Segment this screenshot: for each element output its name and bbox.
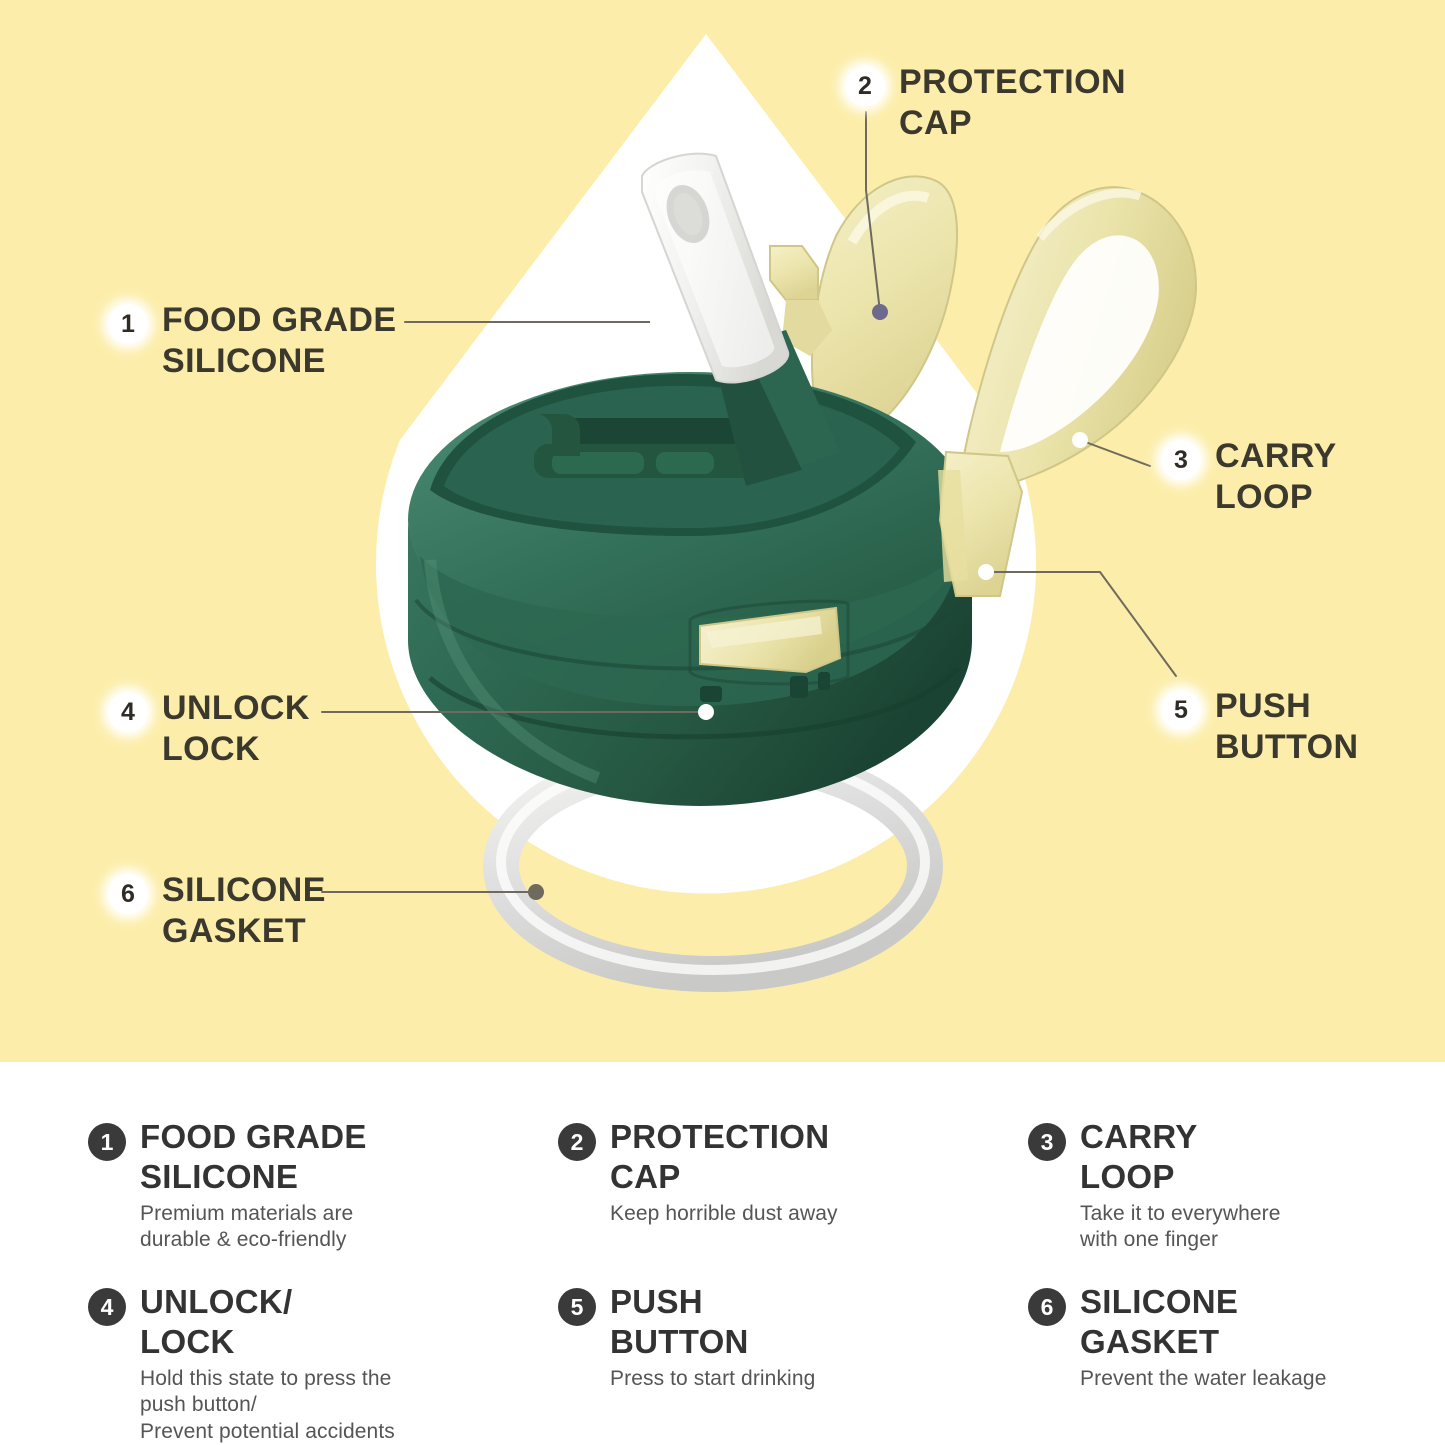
legend-desc-5: Press to start drinking [610, 1366, 815, 1392]
legend-badge-2: 2 [558, 1123, 596, 1161]
callout-label-1: FOOD GRADE SILICONE [162, 300, 396, 383]
callout-5-push-button: 5 PUSH BUTTON [1161, 686, 1358, 769]
callout-label-5: PUSH BUTTON [1215, 686, 1358, 769]
legend-badge-4: 4 [88, 1288, 126, 1326]
product-infographic: 1 FOOD GRADE SILICONE 2 PROTECTION CAP 3… [0, 0, 1445, 1417]
callout-badge-5: 5 [1161, 690, 1201, 730]
callout-6-silicone-gasket: 6 SILICONE GASKET [108, 870, 326, 953]
legend-item-3: 3 CARRY LOOP Take it to everywhere with … [1028, 1117, 1445, 1282]
legend-item-2: 2 PROTECTION CAP Keep horrible dust away [558, 1117, 1028, 1282]
legend-desc-2: Keep horrible dust away [610, 1201, 838, 1227]
legend-item-6: 6 SILICONE GASKET Prevent the water leak… [1028, 1282, 1445, 1445]
legend-title-1: FOOD GRADE SILICONE [140, 1117, 367, 1196]
legend-item-4: 4 UNLOCK/ LOCK Hold this state to press … [88, 1282, 558, 1445]
callout-label-4: UNLOCK LOCK [162, 688, 310, 771]
legend-title-3: CARRY LOOP [1080, 1117, 1281, 1196]
callout-label-2: PROTECTION CAP [899, 62, 1126, 145]
legend-title-2: PROTECTION CAP [610, 1117, 838, 1196]
legend-badge-3: 3 [1028, 1123, 1066, 1161]
callout-label-3: CARRY LOOP [1215, 436, 1337, 519]
hero-panel: 1 FOOD GRADE SILICONE 2 PROTECTION CAP 3… [0, 0, 1445, 1062]
legend-desc-1: Premium materials are durable & eco-frie… [140, 1201, 367, 1254]
callout-badge-3: 3 [1161, 440, 1201, 480]
callout-3-carry-loop: 3 CARRY LOOP [1161, 436, 1337, 519]
legend-title-5: PUSH BUTTON [610, 1282, 815, 1361]
callout-1-food-grade-silicone: 1 FOOD GRADE SILICONE [108, 300, 396, 383]
legend-title-4: UNLOCK/ LOCK [140, 1282, 395, 1361]
legend-badge-1: 1 [88, 1123, 126, 1161]
legend-panel: 1 FOOD GRADE SILICONE Premium materials … [0, 1062, 1445, 1417]
callout-badge-2: 2 [845, 66, 885, 106]
legend-desc-6: Prevent the water leakage [1080, 1366, 1326, 1392]
callout-badge-6: 6 [108, 874, 148, 914]
callout-2-protection-cap: 2 PROTECTION CAP [845, 62, 1126, 145]
callout-badge-4: 4 [108, 692, 148, 732]
callout-label-6: SILICONE GASKET [162, 870, 326, 953]
legend-badge-5: 5 [558, 1288, 596, 1326]
callout-4-unlock-lock: 4 UNLOCK LOCK [108, 688, 310, 771]
legend-title-6: SILICONE GASKET [1080, 1282, 1326, 1361]
legend-item-5: 5 PUSH BUTTON Press to start drinking [558, 1282, 1028, 1445]
legend-desc-4: Hold this state to press the push button… [140, 1366, 395, 1445]
callout-badge-1: 1 [108, 304, 148, 344]
legend-badge-6: 6 [1028, 1288, 1066, 1326]
legend-item-1: 1 FOOD GRADE SILICONE Premium materials … [88, 1117, 558, 1282]
legend-desc-3: Take it to everywhere with one finger [1080, 1201, 1281, 1254]
